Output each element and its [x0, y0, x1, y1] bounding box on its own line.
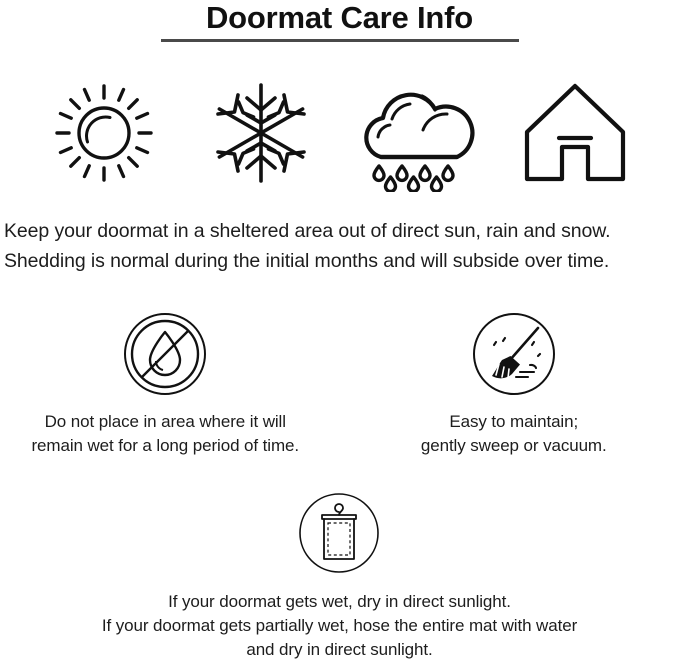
weather-icon-row — [0, 72, 679, 194]
caption-line-2: remain wet for a long period of time. — [32, 434, 300, 458]
title-block: Doormat Care Info — [0, 0, 679, 42]
hang-to-dry-icon — [298, 492, 382, 576]
care-item-caption: Do not place in area where it will remai… — [32, 410, 300, 458]
icon-cell-rain-cloud — [353, 73, 483, 193]
care-items-row: Do not place in area where it will remai… — [0, 312, 679, 458]
title-underline-rule — [161, 39, 519, 42]
care-item-easy-maintain: Easy to maintain; gently sweep or vacuum… — [341, 312, 679, 458]
intro-paragraph: Keep your doormat in a sheltered area ou… — [4, 216, 679, 276]
caption-line-3: and dry in direct sunlight. — [102, 638, 577, 662]
snowflake-icon — [209, 79, 313, 187]
house-icon — [517, 78, 633, 188]
no-water-icon — [123, 312, 207, 396]
care-item-caption: Easy to maintain; gently sweep or vacuum… — [421, 410, 607, 458]
intro-line-1: Keep your doormat in a sheltered area ou… — [4, 216, 679, 246]
caption-line-2: gently sweep or vacuum. — [421, 434, 607, 458]
rain-cloud-icon — [355, 74, 481, 192]
drying-instructions-caption: If your doormat gets wet, dry in direct … — [102, 590, 577, 662]
intro-line-2: Shedding is normal during the initial mo… — [4, 246, 679, 276]
sun-icon — [51, 80, 157, 186]
caption-line-1: Do not place in area where it will — [32, 410, 300, 434]
caption-line-1: If your doormat gets wet, dry in direct … — [102, 590, 577, 614]
care-item-no-standing-water: Do not place in area where it will remai… — [0, 312, 341, 458]
drying-instructions-block: If your doormat gets wet, dry in direct … — [0, 492, 679, 662]
broom-sweep-icon — [472, 312, 556, 396]
icon-cell-sun — [39, 73, 169, 193]
caption-line-1: Easy to maintain; — [421, 410, 607, 434]
icon-cell-snowflake — [196, 73, 326, 193]
icon-cell-house — [510, 73, 640, 193]
caption-line-2: If your doormat gets partially wet, hose… — [102, 614, 577, 638]
page-title: Doormat Care Info — [0, 0, 679, 35]
